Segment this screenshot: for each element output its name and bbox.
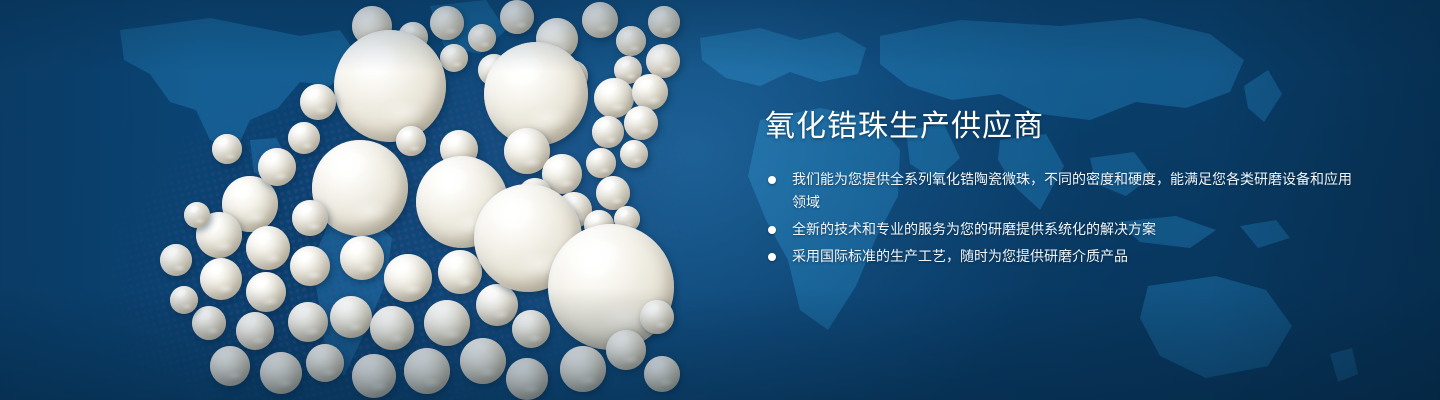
- bullet-item: 全新的技术和专业的服务为您的研磨提供系统化的解决方案: [768, 218, 1365, 241]
- bullet-dot-icon: [768, 253, 776, 261]
- banner-headline: 氧化锆珠生产供应商: [765, 108, 1365, 146]
- bullet-text: 全新的技术和专业的服务为您的研磨提供系统化的解决方案: [792, 218, 1365, 241]
- banner-copy: 氧化锆珠生产供应商 我们能为您提供全系列氧化锆陶瓷微珠，不同的密度和硬度，能满足…: [765, 108, 1365, 272]
- bullet-dot-icon: [768, 226, 776, 234]
- bullet-text: 我们能为您提供全系列氧化锆陶瓷微珠，不同的密度和硬度，能满足您各类研磨设备和应用…: [792, 168, 1365, 214]
- banner-bullet-list: 我们能为您提供全系列氧化锆陶瓷微珠，不同的密度和硬度，能满足您各类研磨设备和应用…: [768, 168, 1365, 268]
- bullet-item: 采用国际标准的生产工艺，随时为您提供研磨介质产品: [768, 245, 1365, 268]
- bullet-text: 采用国际标准的生产工艺，随时为您提供研磨介质产品: [792, 245, 1365, 268]
- bullet-item: 我们能为您提供全系列氧化锆陶瓷微珠，不同的密度和硬度，能满足您各类研磨设备和应用…: [768, 168, 1365, 214]
- hero-banner: 氧化锆珠生产供应商 我们能为您提供全系列氧化锆陶瓷微珠，不同的密度和硬度，能满足…: [0, 0, 1440, 400]
- bullet-dot-icon: [768, 176, 776, 184]
